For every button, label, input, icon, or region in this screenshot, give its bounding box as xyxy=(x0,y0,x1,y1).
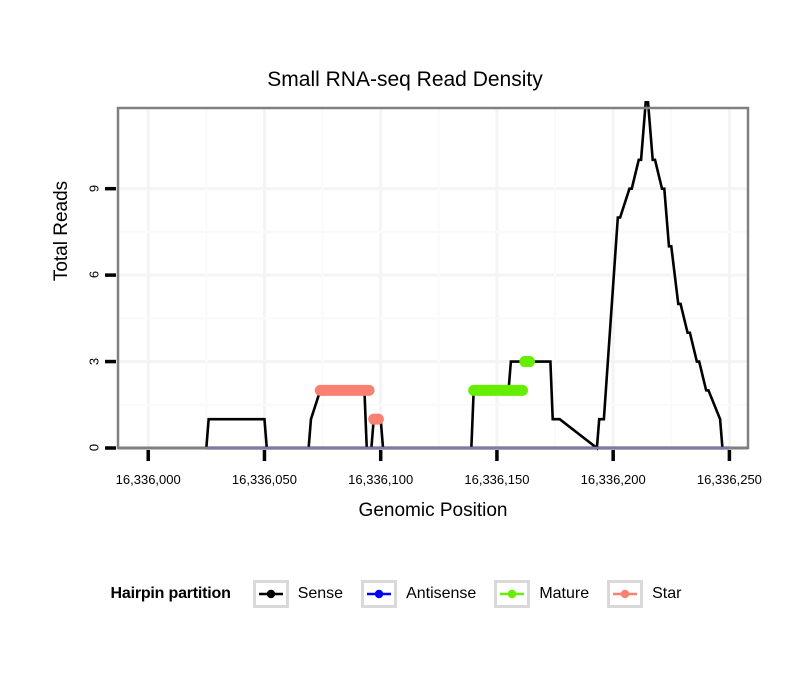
y-tick-label: 9 xyxy=(87,176,102,200)
legend-item-star[interactable]: Star xyxy=(607,580,699,608)
x-tick-label: 16,336,200 xyxy=(558,472,668,487)
x-tick-label: 16,336,000 xyxy=(93,472,203,487)
legend-items: SenseAntisenseMatureStar xyxy=(253,580,700,608)
chart-legend: Hairpin partition SenseAntisenseMatureSt… xyxy=(0,580,810,608)
legend-key-icon xyxy=(361,580,397,608)
legend-key-icon xyxy=(253,580,289,608)
legend-label: Sense xyxy=(298,585,343,603)
y-tick-label: 6 xyxy=(87,263,102,287)
y-tick-label: 0 xyxy=(87,436,102,460)
x-tick-label: 16,336,050 xyxy=(209,472,319,487)
legend-title: Hairpin partition xyxy=(111,585,231,603)
y-tick-label: 3 xyxy=(87,349,102,373)
legend-item-antisense[interactable]: Antisense xyxy=(361,580,494,608)
x-tick-label: 16,336,100 xyxy=(326,472,436,487)
legend-label: Mature xyxy=(539,585,589,603)
x-tick-label: 16,336,150 xyxy=(442,472,552,487)
legend-item-sense[interactable]: Sense xyxy=(253,580,361,608)
legend-label: Star xyxy=(652,585,681,603)
chart-canvas: Small RNA-seq Read Density Total Reads G… xyxy=(0,0,810,690)
legend-key-icon xyxy=(494,580,530,608)
legend-key-icon xyxy=(607,580,643,608)
x-tick-label: 16,336,250 xyxy=(674,472,784,487)
legend-item-mature[interactable]: Mature xyxy=(494,580,607,608)
legend-label: Antisense xyxy=(406,585,476,603)
